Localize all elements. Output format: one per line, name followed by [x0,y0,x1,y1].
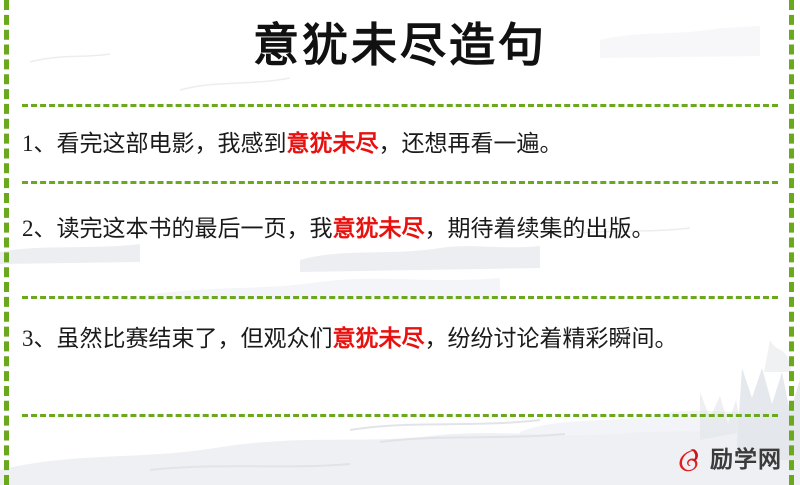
brand-name: 励学网 [710,449,782,472]
divider-rule-2 [22,181,778,184]
example-sentence-1: 1、看完这部电影，我感到意犹未尽，还想再看一遍。 [22,122,766,166]
sentence-index-2: 2、 [22,216,57,241]
sentence-text-after-2: ，期待着续集的出版。 [425,216,655,241]
divider-rule-3 [22,296,778,299]
sentence-index-3: 3、 [22,326,57,351]
sentence-text-before-2: 读完这本书的最后一页，我 [57,216,333,241]
highlighted-idiom-1: 意犹未尽 [287,130,379,157]
document-page: 意犹未尽造句 1、看完这部电影，我感到意犹未尽，还想再看一遍。 2、读完这本书的… [0,0,800,485]
example-sentence-3: 3、虽然比赛结束了，但观众们意犹未尽，纷纷讨论着精彩瞬间。 [22,317,766,361]
brand-watermark: 励学网 [674,443,782,477]
divider-rule-4 [22,414,778,417]
highlighted-idiom-3: 意犹未尽 [333,325,425,352]
sentence-text-after-3: ，纷纷讨论着精彩瞬间。 [425,326,678,351]
divider-rule-1 [22,104,778,107]
page-title: 意犹未尽造句 [0,14,800,76]
sentence-text-before-1: 看完这部电影，我感到 [57,131,287,156]
sentence-text-before-3: 虽然比赛结束了，但观众们 [57,326,333,351]
example-sentence-2: 2、读完这本书的最后一页，我意犹未尽，期待着续集的出版。 [22,207,766,251]
sentence-index-1: 1、 [22,131,57,156]
swirl-logo-icon [674,445,704,475]
highlighted-idiom-2: 意犹未尽 [333,215,425,242]
sentence-text-after-1: ，还想再看一遍。 [379,131,563,156]
